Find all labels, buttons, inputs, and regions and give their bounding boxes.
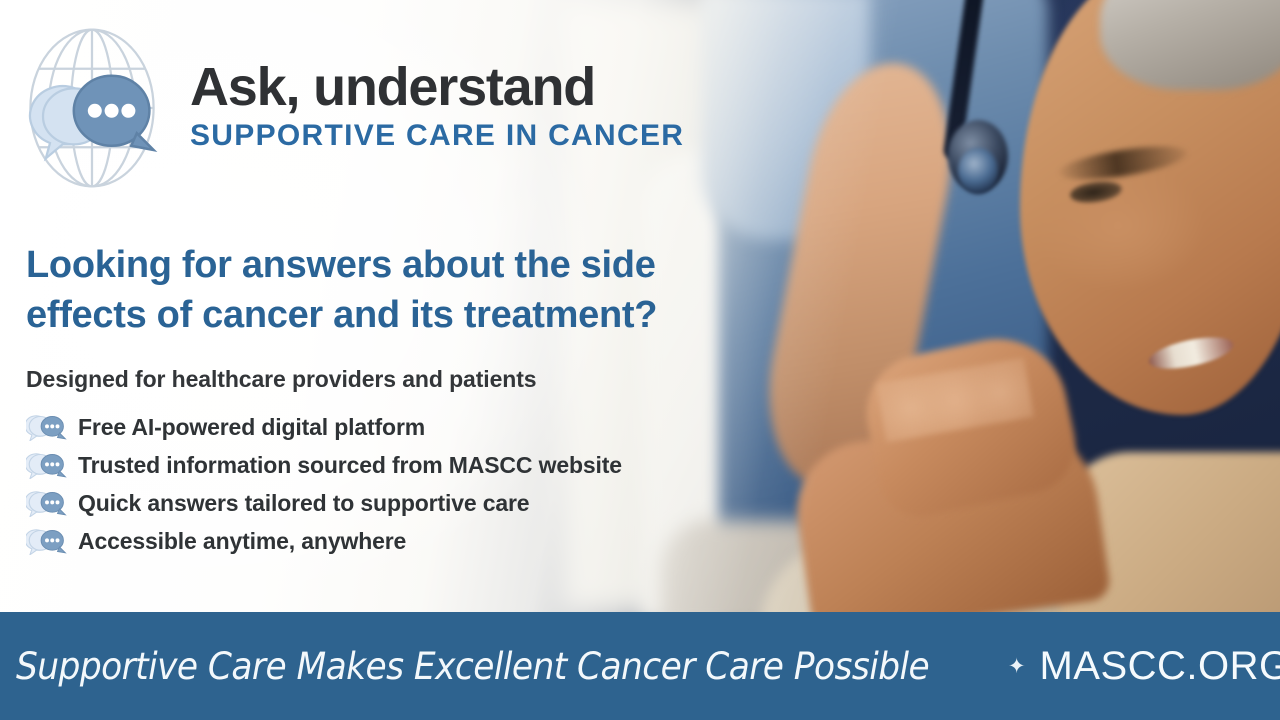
footer-tagline: Supportive Care Makes Excellent Cancer C… (16, 645, 929, 688)
brand-title: Ask, understand (190, 60, 684, 114)
speech-bubbles-icon (26, 413, 68, 441)
speech-bubbles-icon (26, 527, 68, 555)
brand-subtitle: SUPPORTIVE CARE IN CANCER (190, 121, 684, 151)
speech-bubbles-icon (26, 489, 68, 517)
list-item: Trusted information sourced from MASCC w… (26, 446, 622, 484)
bullet-label: Free AI-powered digital platform (78, 414, 425, 441)
bullet-label: Quick answers tailored to supportive car… (78, 490, 529, 517)
footer-bar: Supportive Care Makes Excellent Cancer C… (0, 612, 1280, 720)
list-item: Quick answers tailored to supportive car… (26, 484, 622, 522)
brand-wordmark: Ask, understand SUPPORTIVE CARE IN CANCE… (190, 60, 684, 157)
content-column: Ask, understand SUPPORTIVE CARE IN CANCE… (0, 0, 760, 614)
list-item: Free AI-powered digital platform (26, 408, 622, 446)
feature-bullet-list: Free AI-powered digital platform Trusted… (26, 408, 622, 560)
bullet-label: Accessible anytime, anywhere (78, 528, 406, 555)
mascc-promotional-banner: Ask, understand SUPPORTIVE CARE IN CANCE… (0, 0, 1280, 720)
brand-logo-lockup[interactable]: Ask, understand SUPPORTIVE CARE IN CANCE… (8, 24, 684, 192)
page-subhead: Designed for healthcare providers and pa… (26, 366, 536, 393)
bullet-label: Trusted information sourced from MASCC w… (78, 452, 622, 479)
footer-content: Supportive Care Makes Excellent Cancer C… (0, 644, 1280, 689)
speech-bubbles-icon (26, 451, 68, 479)
star-icon: ✦ (1008, 656, 1026, 677)
page-headline: Looking for answers about the side effec… (26, 240, 726, 340)
list-item: Accessible anytime, anywhere (26, 522, 622, 560)
footer-website-url[interactable]: MASCC.ORG (1039, 644, 1280, 689)
globe-speech-bubbles-icon (8, 24, 176, 192)
